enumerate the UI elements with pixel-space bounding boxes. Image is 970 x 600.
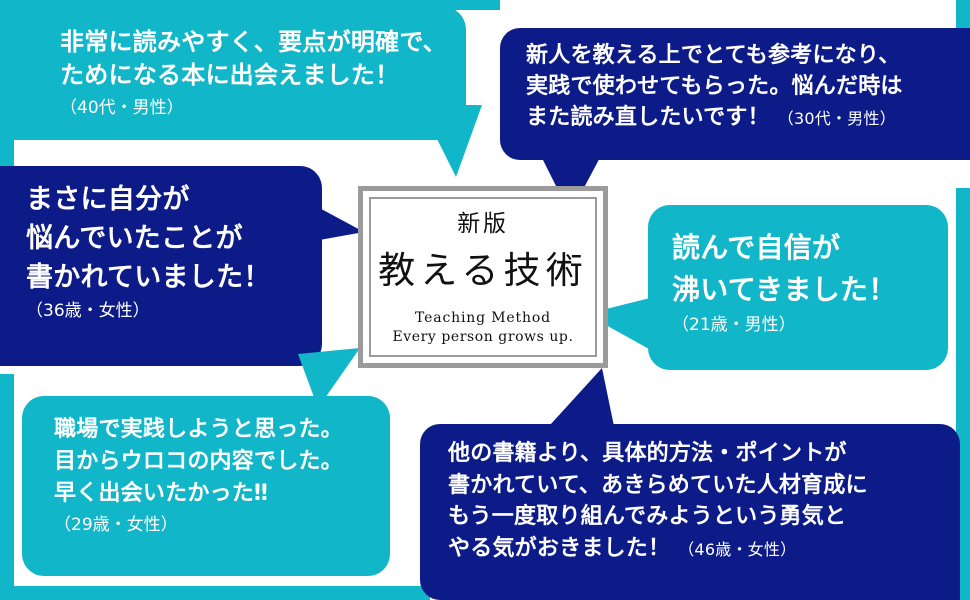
attribution: （30代・男性） — [778, 109, 896, 128]
attribution: （40代・男性） — [60, 96, 466, 122]
book-cover-text: 新版 教える技術 Teaching Method Every person gr… — [363, 213, 603, 347]
quote-line: 非常に読みやすく、要点が明確で、 — [60, 26, 466, 59]
quote-line: 沸いてきました！ — [672, 269, 948, 311]
quote-line: 早く出会いたかった‼ — [54, 478, 390, 510]
quote-line: 職場で実践しようと思った。 — [54, 414, 390, 446]
edge-band-bottom-left — [0, 374, 14, 600]
quote-line: まさに自分が — [26, 180, 322, 219]
testimonial-text: 非常に読みやすく、要点が明確で、 ためになる本に出会えました！ （40代・男性） — [0, 6, 466, 122]
book-subtitle-line1: Teaching Method — [363, 309, 603, 328]
book-title: 教える技術 — [363, 252, 603, 291]
quote-line: ためになる本に出会えました！ — [60, 59, 466, 92]
book-subtitle-line2: Every person grows up. — [363, 328, 603, 347]
book-edition: 新版 — [363, 213, 603, 236]
testimonial-text: まさに自分が 悩んでいたことが 書かれていました！ （36歳・女性） — [0, 166, 322, 324]
attribution: （46歳・女性） — [678, 540, 796, 559]
testimonial-text: 他の書籍より、具体的方法・ポイントが 書かれていて、あきらめていた人材育成に も… — [420, 424, 960, 565]
quote-line: 読んで自信が — [672, 227, 948, 269]
testimonial-collage: 非常に読みやすく、要点が明確で、 ためになる本に出会えました！ （40代・男性）… — [0, 0, 970, 600]
testimonial-bottom-left: 職場で実践しようと思った。 目からウロコの内容でした。 早く出会いたかった‼ （… — [22, 396, 390, 576]
attribution: （36歳・女性） — [26, 300, 322, 324]
quote-line: 実践で使わせてもらった。悩んだ時は — [526, 71, 970, 102]
testimonial-text: 職場で実践しようと思った。 目からウロコの内容でした。 早く出会いたかった‼ （… — [22, 396, 390, 537]
testimonial-top-left: 非常に読みやすく、要点が明確で、 ためになる本に出会えました！ （40代・男性） — [0, 6, 466, 140]
attribution: （29歳・女性） — [54, 514, 390, 538]
book-cover: 新版 教える技術 Teaching Method Every person gr… — [358, 186, 608, 368]
quote-line: 書かれていて、あきらめていた人材育成に — [448, 470, 960, 502]
quote-line: 新人を教える上でとても参考になり、 — [526, 40, 970, 71]
quote-line: 書かれていました！ — [26, 258, 322, 297]
testimonial-middle-left: まさに自分が 悩んでいたことが 書かれていました！ （36歳・女性） — [0, 166, 322, 366]
quote-line-with-attribution: やる気がおきました！（46歳・女性） — [448, 533, 960, 565]
testimonial-middle-right: 読んで自信が 沸いてきました！ （21歳・男性） — [648, 205, 948, 370]
quote-line-with-attribution: また読み直したいです！（30代・男性） — [526, 102, 970, 133]
testimonial-text: 読んで自信が 沸いてきました！ （21歳・男性） — [648, 205, 948, 338]
quote-line: 悩んでいたことが — [26, 219, 322, 258]
testimonial-text: 新人を教える上でとても参考になり、 実践で使わせてもらった。悩んだ時は また読み… — [500, 28, 970, 134]
quote-line: 他の書籍より、具体的方法・ポイントが — [448, 438, 960, 470]
testimonial-top-right: 新人を教える上でとても参考になり、 実践で使わせてもらった。悩んだ時は また読み… — [500, 28, 970, 160]
quote-line: また読み直したいです！ — [526, 105, 770, 130]
edge-band-bottom-strip — [0, 586, 430, 600]
attribution: （21歳・男性） — [672, 314, 948, 338]
quote-line: もう一度取り組んでみようという勇気と — [448, 501, 960, 533]
testimonial-bottom-right: 他の書籍より、具体的方法・ポイントが 書かれていて、あきらめていた人材育成に も… — [420, 424, 960, 600]
quote-line: 目からウロコの内容でした。 — [54, 446, 390, 478]
quote-line: やる気がおきました！ — [448, 536, 670, 561]
